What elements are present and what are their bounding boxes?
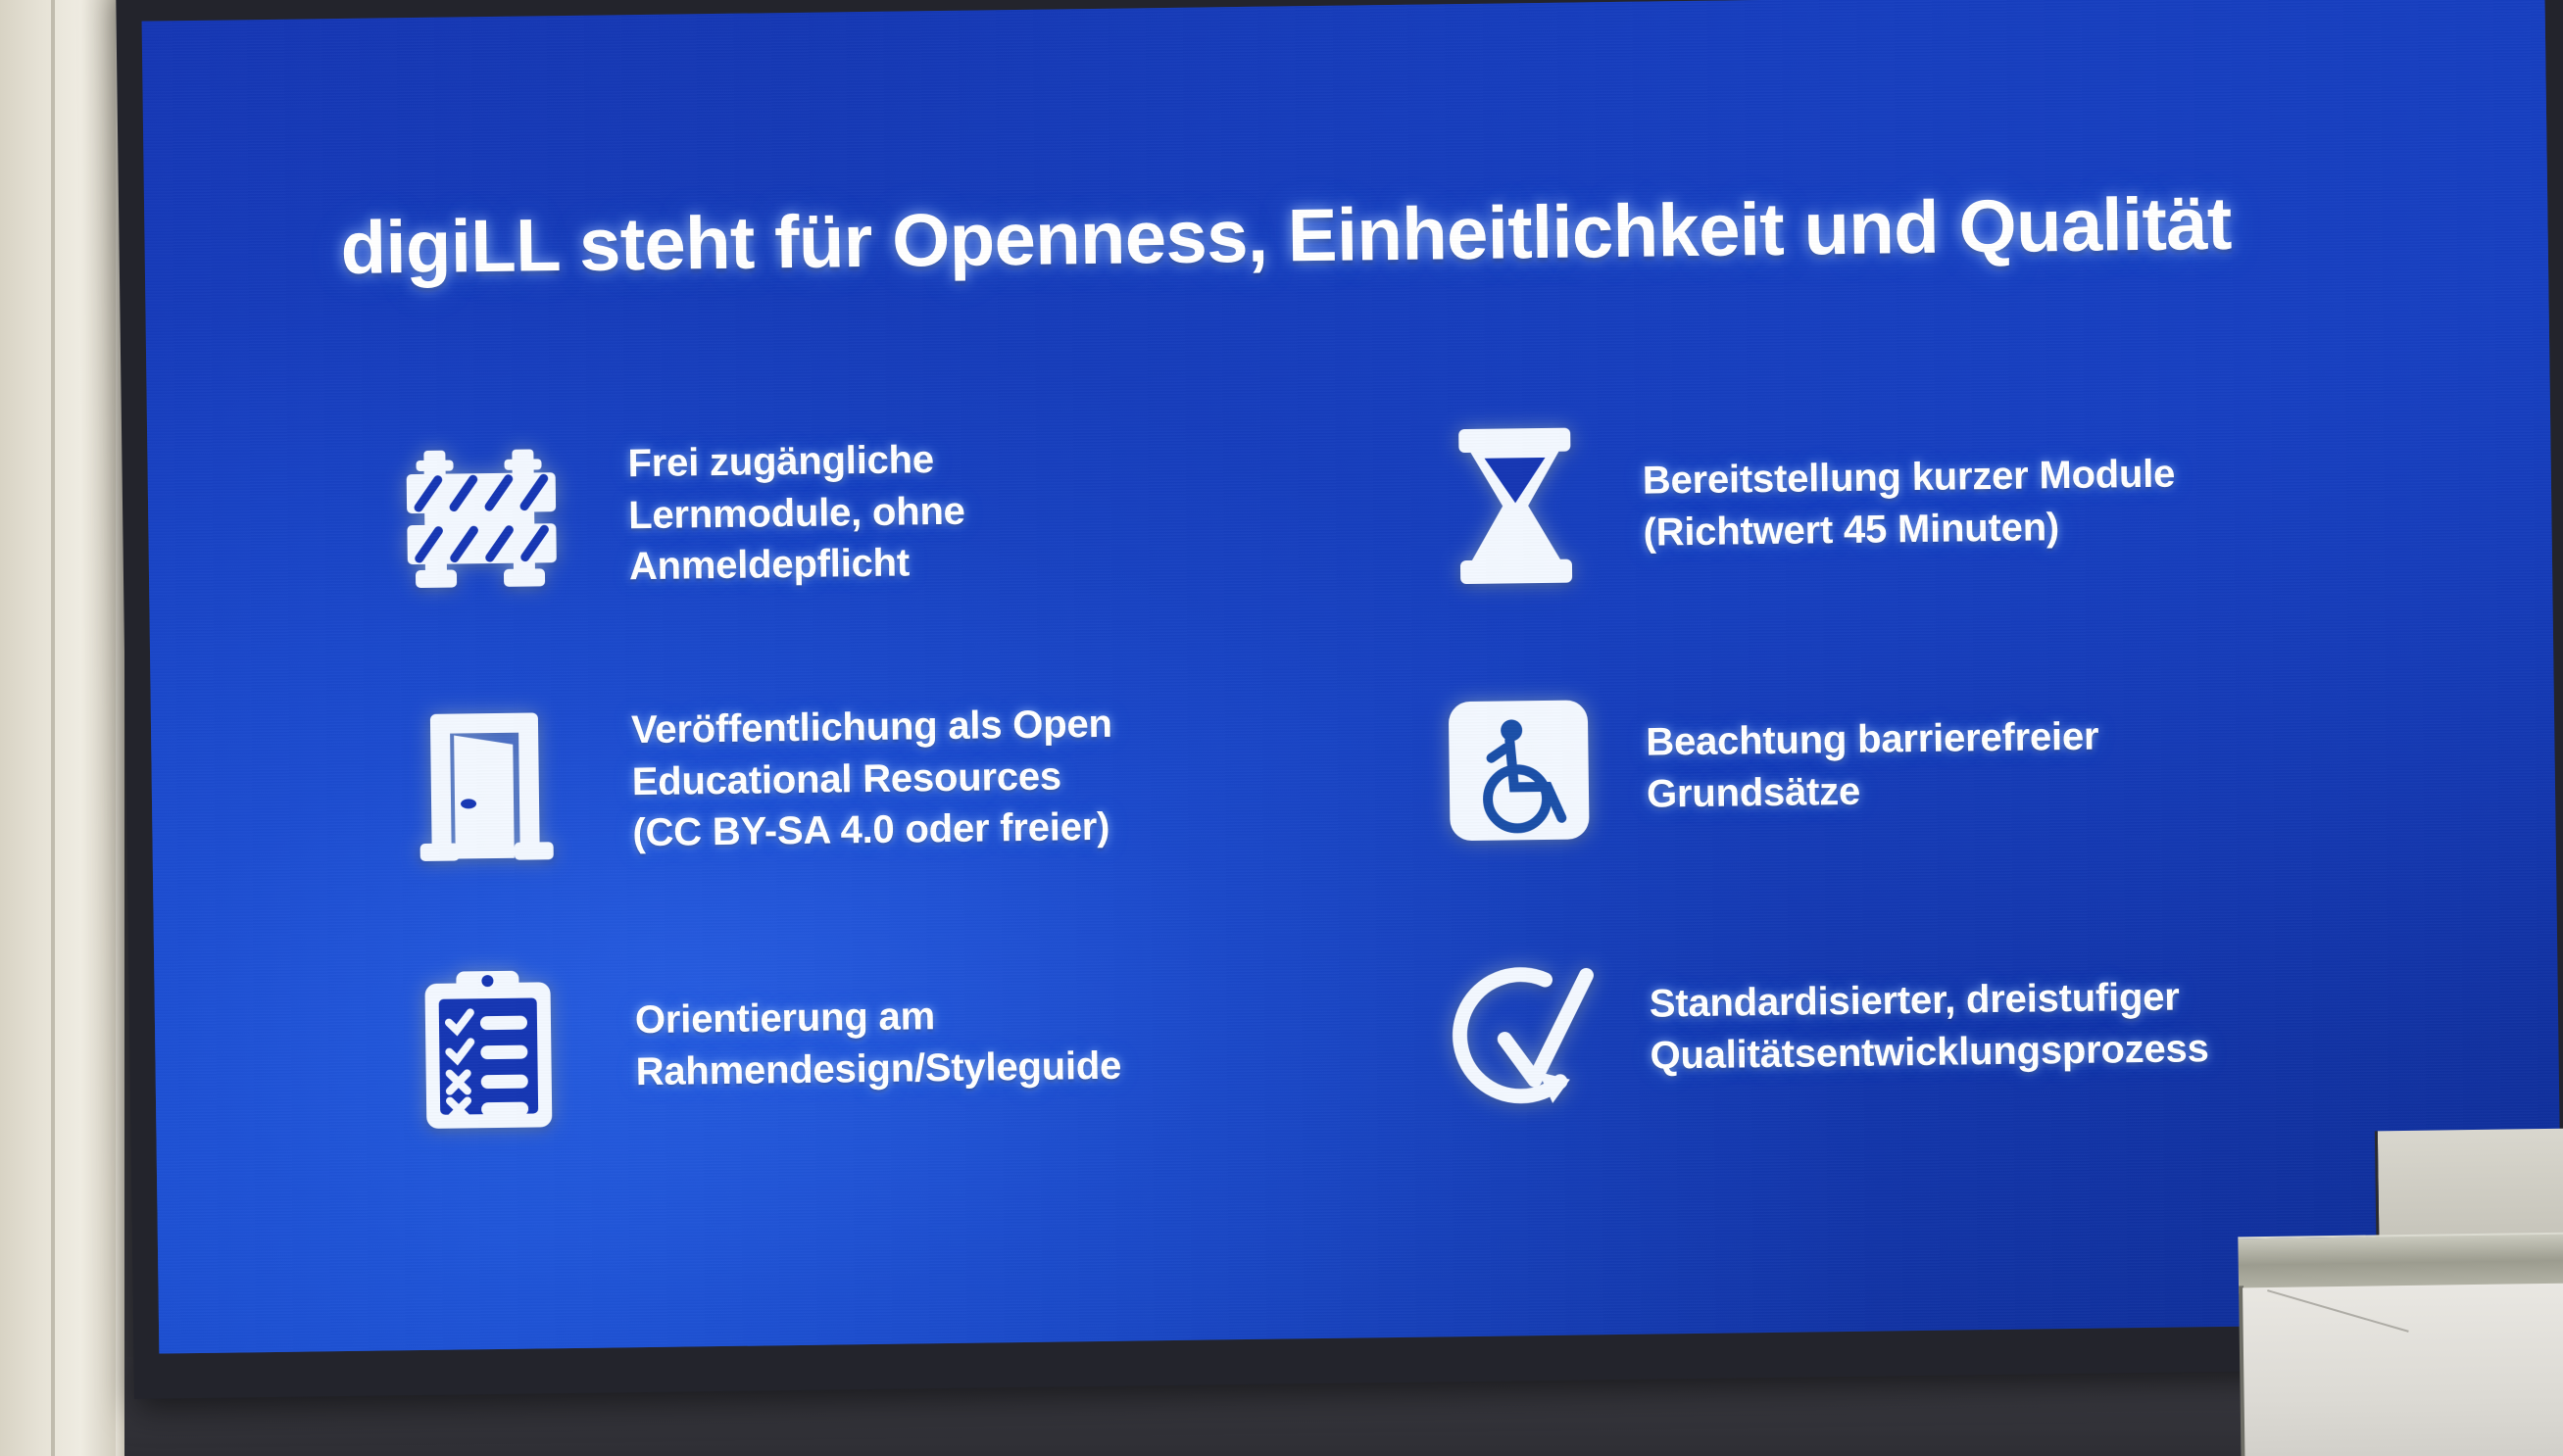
feature-line: Grundsätze bbox=[1647, 763, 2100, 821]
feature-line: Bereitstellung kurzer Module bbox=[1643, 449, 2176, 508]
feature-line: (Richtwert 45 Minuten) bbox=[1643, 501, 2176, 559]
clipboard-checklist-icon bbox=[340, 963, 636, 1134]
flipchart-corner bbox=[2238, 1233, 2563, 1456]
feature-column-left: Frei zugängliche Lernmodule, ohne Anmeld… bbox=[333, 375, 1432, 1183]
flipchart-upper-panel bbox=[2375, 1129, 2563, 1241]
feature-text-open-access: Frei zugängliche Lernmodule, ohne Anmeld… bbox=[627, 434, 966, 594]
feature-line: Orientierung am bbox=[635, 989, 1121, 1046]
feature-text-oer-license: Veröffentlichung als Open Educational Re… bbox=[631, 699, 1114, 860]
feature-columns: Frei zugängliche Lernmodule, ohne Anmeld… bbox=[147, 361, 2550, 392]
feature-text-quality-process: Standardisierter, dreistufiger Qualitäts… bbox=[1649, 971, 2208, 1082]
feature-item-module-length: Bereitstellung kurzer Module (Richtwert … bbox=[1386, 361, 2487, 640]
feature-text-module-length: Bereitstellung kurzer Module (Richtwert … bbox=[1643, 449, 2177, 559]
presentation-slide: digiLL steht für Openness, Einheitlichke… bbox=[142, 0, 2563, 1354]
photo-of-presentation-screen: digiLL steht für Openness, Einheitlichke… bbox=[0, 0, 2563, 1456]
flipchart-paper bbox=[2243, 1284, 2563, 1456]
feature-item-accessibility: Beachtung barrierefreier Grundsätze bbox=[1390, 625, 2490, 904]
feature-line: Rahmendesign/Styleguide bbox=[635, 1041, 1121, 1098]
feature-text-styleguide: Orientierung am Rahmendesign/Styleguide bbox=[635, 989, 1122, 1098]
feature-line: Anmeldepflicht bbox=[629, 537, 966, 593]
barrier-icon bbox=[333, 444, 629, 595]
feature-item-open-access: Frei zugängliche Lernmodule, ohne Anmeld… bbox=[333, 375, 1424, 655]
feature-line: Educational Resources bbox=[631, 750, 1112, 807]
feature-item-quality-process: Standardisierter, dreistufiger Qualitäts… bbox=[1393, 890, 2493, 1169]
open-door-icon bbox=[337, 704, 633, 864]
slide-title: digiLL steht für Openness, Einheitlichke… bbox=[340, 181, 2478, 287]
feature-line: Qualitätsentwicklungsprozess bbox=[1650, 1023, 2209, 1082]
feature-line: Frei zugängliche bbox=[627, 434, 964, 490]
feature-line: Veröffentlichung als Open bbox=[631, 699, 1112, 756]
hourglass-icon bbox=[1387, 423, 1644, 589]
projector-screen-bezel: digiLL steht für Openness, Einheitlichke… bbox=[116, 0, 2563, 1399]
feature-text-accessibility: Beachtung barrierefreier Grundsätze bbox=[1646, 711, 2099, 821]
feature-line: Beachtung barrierefreier bbox=[1646, 711, 2099, 769]
feature-item-oer-license: Veröffentlichung als Open Educational Re… bbox=[336, 640, 1427, 919]
feature-line: Standardisierter, dreistufiger bbox=[1649, 971, 2208, 1030]
feature-column-right: Bereitstellung kurzer Module (Richtwert … bbox=[1386, 361, 2494, 1169]
wheelchair-accessibility-icon bbox=[1391, 696, 1648, 846]
left-wall bbox=[0, 0, 116, 1456]
feature-line: (CC BY-SA 4.0 oder freier) bbox=[632, 801, 1113, 859]
quality-cycle-check-icon bbox=[1394, 955, 1651, 1115]
feature-line: Lernmodule, ohne bbox=[628, 485, 965, 541]
left-wall-seam bbox=[51, 0, 55, 1456]
feature-item-styleguide: Orientierung am Rahmendesign/Styleguide bbox=[340, 904, 1431, 1184]
